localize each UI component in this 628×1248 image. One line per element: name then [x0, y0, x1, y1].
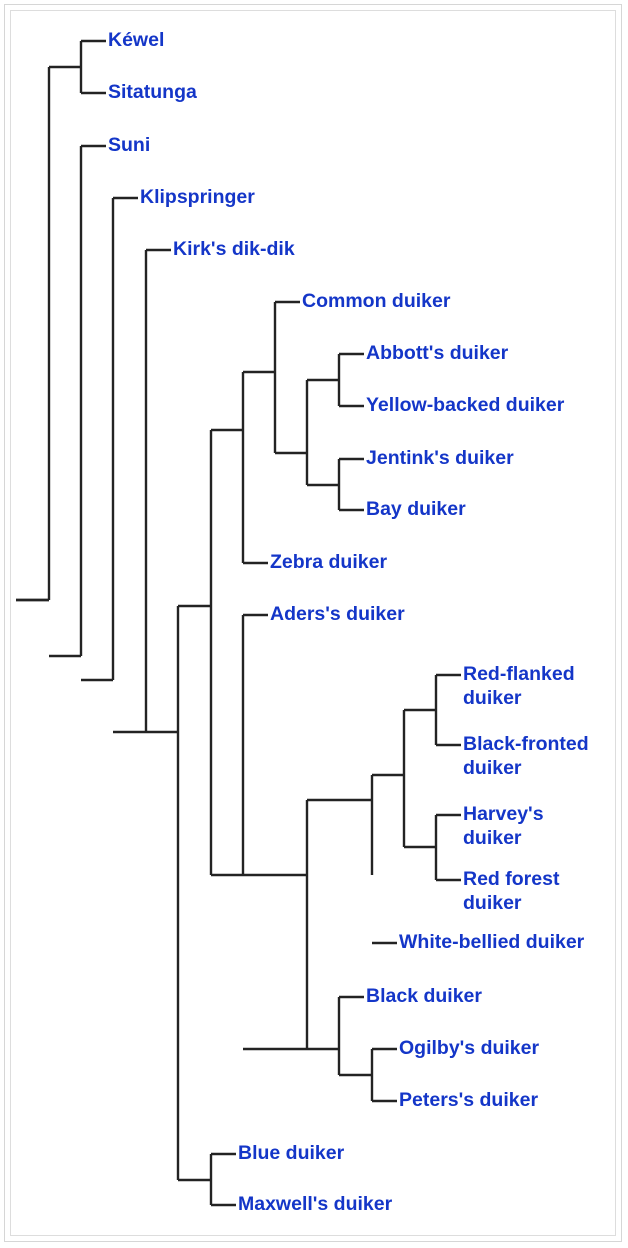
taxon-label-line: Black-fronted: [463, 733, 589, 755]
taxon-label-black-duiker[interactable]: Black duiker: [366, 985, 482, 1007]
taxon-label-bay-duiker[interactable]: Bay duiker: [366, 498, 466, 520]
taxon-label-suni[interactable]: Suni: [108, 134, 150, 156]
taxon-label-line: duiker: [463, 687, 522, 709]
taxon-label-line: Common duiker: [302, 290, 451, 312]
taxon-label-line: Maxwell's duiker: [238, 1193, 393, 1215]
taxon-label-line: Kéwel: [108, 29, 164, 51]
taxon-label-line: White-bellied duiker: [399, 931, 585, 953]
taxon-label-jentinks-duiker[interactable]: Jentink's duiker: [366, 447, 514, 469]
taxon-label-line: duiker: [463, 827, 522, 849]
taxon-label-black-fronted-duiker[interactable]: Black-frontedduiker: [463, 733, 589, 779]
taxon-label-zebra-duiker[interactable]: Zebra duiker: [270, 551, 387, 573]
taxon-label-ogilbys-duiker[interactable]: Ogilby's duiker: [399, 1037, 540, 1059]
taxon-label-harveys-duiker[interactable]: Harvey'sduiker: [463, 803, 544, 849]
taxon-label-peterss-duiker[interactable]: Peters's duiker: [399, 1089, 538, 1111]
taxon-label-sitatunga[interactable]: Sitatunga: [108, 81, 197, 103]
taxon-label-line: Abbott's duiker: [366, 342, 509, 364]
cladogram-diagram: KéwelSitatungaSuniKlipspringerKirk's dik…: [0, 0, 628, 1248]
taxon-label-line: Klipspringer: [140, 186, 255, 208]
taxon-label-line: Suni: [108, 134, 150, 156]
taxon-label-kirks-dik-dik[interactable]: Kirk's dik-dik: [173, 238, 295, 260]
taxon-label-aderss-duiker[interactable]: Aders's duiker: [270, 603, 405, 625]
taxon-label-line: Red-flanked: [463, 663, 575, 685]
taxon-label-line: Harvey's: [463, 803, 544, 825]
taxon-label-line: Yellow-backed duiker: [366, 394, 565, 416]
taxon-label-yellow-backed-duiker[interactable]: Yellow-backed duiker: [366, 394, 565, 416]
taxon-label-line: Black duiker: [366, 985, 482, 1007]
taxon-label-klipspringer[interactable]: Klipspringer: [140, 186, 255, 208]
taxon-label-kewel[interactable]: Kéwel: [108, 29, 164, 51]
taxon-label-line: Peters's duiker: [399, 1089, 538, 1111]
taxon-label-red-forest-duiker[interactable]: Red forestduiker: [463, 868, 560, 914]
taxon-label-line: Aders's duiker: [270, 603, 405, 625]
taxon-label-line: Blue duiker: [238, 1142, 345, 1164]
taxon-label-red-flanked-duiker[interactable]: Red-flankedduiker: [463, 663, 575, 709]
taxon-label-line: Kirk's dik-dik: [173, 238, 295, 260]
taxon-label-line: Red forest: [463, 868, 560, 890]
taxon-label-line: Ogilby's duiker: [399, 1037, 540, 1059]
taxon-label-common-duiker[interactable]: Common duiker: [302, 290, 451, 312]
taxon-label-line: Bay duiker: [366, 498, 466, 520]
taxon-label-blue-duiker[interactable]: Blue duiker: [238, 1142, 345, 1164]
taxon-label-abbotts-duiker[interactable]: Abbott's duiker: [366, 342, 509, 364]
taxon-label-line: duiker: [463, 757, 522, 779]
taxon-label-line: duiker: [463, 892, 522, 914]
taxon-label-white-bellied-duiker[interactable]: White-bellied duiker: [399, 931, 585, 953]
label-layer: KéwelSitatungaSuniKlipspringerKirk's dik…: [108, 29, 589, 1215]
taxon-label-line: Zebra duiker: [270, 551, 387, 573]
taxon-label-line: Jentink's duiker: [366, 447, 514, 469]
taxon-label-line: Sitatunga: [108, 81, 197, 103]
taxon-label-maxwells-duiker[interactable]: Maxwell's duiker: [238, 1193, 393, 1215]
